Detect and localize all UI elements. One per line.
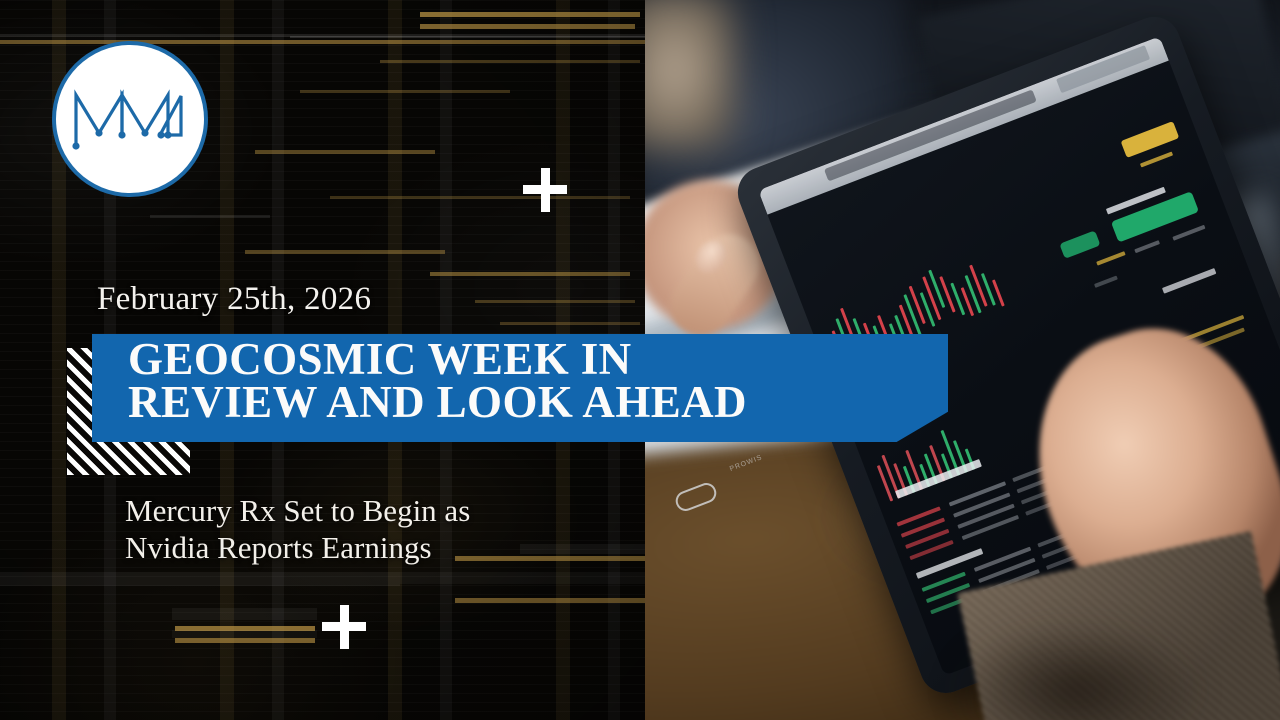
plus-decoration-icon (322, 605, 366, 649)
photo-knit-shadow (945, 620, 1205, 720)
page-title-line-2: REVIEW AND LOOK AHEAD (128, 381, 958, 424)
page-subtitle-line-2: Nvidia Reports Earnings (125, 530, 432, 565)
issue-date: February 25th, 2026 (97, 281, 371, 318)
tablet-sell-chip (1059, 230, 1100, 259)
photo-warm-light (645, 0, 735, 150)
plus-decoration-icon (523, 168, 567, 212)
poster-canvas: PROWIS February 25th, 2026 (0, 0, 1280, 720)
page-title: GEOCOSMIC WEEK IN REVIEW AND LOOK AHEAD (128, 338, 958, 424)
mma-logo-mark (71, 88, 189, 150)
mma-logo[interactable] (56, 45, 204, 193)
page-subtitle-line-1: Mercury Rx Set to Begin as (125, 493, 470, 528)
page-subtitle: Mercury Rx Set to Begin as Nvidia Report… (125, 492, 645, 566)
